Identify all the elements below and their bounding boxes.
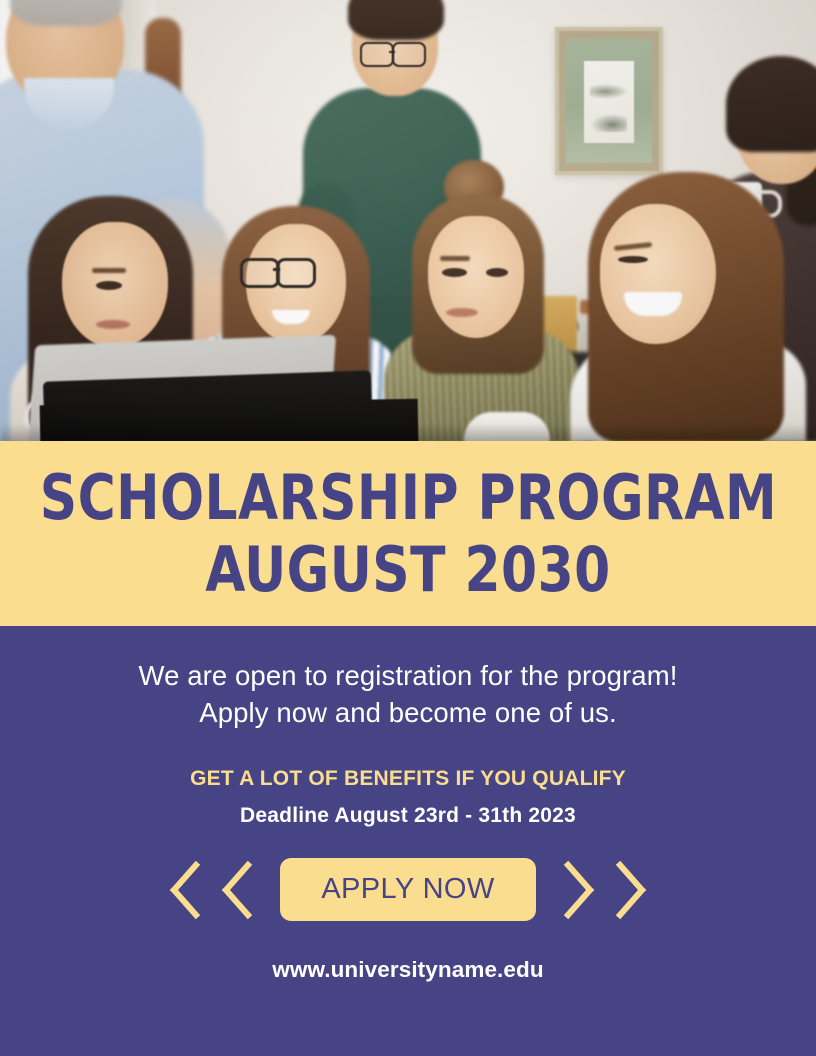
- chevron-left-inner-icon: [220, 860, 254, 920]
- woman-striped-shirt-glasses-left-lens: [240, 258, 280, 288]
- woman-olive-sweater-eye-right: [486, 268, 508, 277]
- intro-line1: We are open to registration for the prog…: [0, 658, 816, 695]
- poster-title-line2: AUGUST 2030: [205, 534, 610, 606]
- photo-scene: [0, 0, 816, 441]
- poster-title-line1: SCHOLARSHIP PROGRAM: [39, 462, 776, 534]
- woman-olive-sweater-lips: [446, 308, 478, 317]
- benefits-headline: GET A LOT OF BENEFITS IF YOU QUALIFY: [0, 731, 816, 791]
- chevron-left-outer-icon: [168, 860, 202, 920]
- man-blue-polo-hair: [10, 0, 122, 26]
- framed-wall-art: [555, 27, 663, 175]
- website-url[interactable]: www.universityname.edu: [0, 921, 816, 983]
- woman-dark-hair-lips: [96, 320, 130, 329]
- title-band: SCHOLARSHIP PROGRAM AUGUST 2030: [0, 441, 816, 626]
- chevron-right-inner-icon: [562, 860, 596, 920]
- scholarship-program-poster: SCHOLARSHIP PROGRAM AUGUST 2030 We are o…: [0, 0, 816, 1056]
- center-person-glasses-left-lens: [360, 42, 394, 67]
- woman-white-top-face: [600, 204, 716, 344]
- woman-olive-sweater-eye-left: [442, 268, 467, 277]
- header-photo: [0, 0, 816, 441]
- woman-white-top-eye: [618, 256, 648, 263]
- foreground-shadow: [0, 424, 816, 441]
- call-to-action-row: APPLY NOW: [0, 858, 816, 921]
- woman-striped-shirt-glasses-bridge: [273, 268, 280, 271]
- woman-dark-hair-brow: [92, 268, 126, 273]
- woman-dark-hair-eye: [96, 281, 122, 290]
- frame-artwork: [584, 61, 634, 143]
- chevron-right-outer-icon: [614, 860, 648, 920]
- woman-striped-shirt-glasses-right-lens: [276, 258, 316, 288]
- center-person-hair: [348, 0, 444, 40]
- center-person-glasses-bridge: [389, 51, 395, 53]
- woman-olive-sweater-brow: [440, 256, 470, 261]
- frame-mat: [566, 39, 652, 163]
- intro-text: We are open to registration for the prog…: [0, 626, 816, 731]
- center-person-glasses-right-lens: [392, 42, 426, 67]
- intro-line2: Apply now and become one of us.: [0, 695, 816, 732]
- body-band: We are open to registration for the prog…: [0, 626, 816, 1056]
- woman-olive-sweater-face: [428, 216, 524, 338]
- apply-now-button[interactable]: APPLY NOW: [280, 858, 536, 921]
- woman-mug-hair: [726, 56, 816, 152]
- deadline-text: Deadline August 23rd - 31th 2023: [0, 791, 816, 828]
